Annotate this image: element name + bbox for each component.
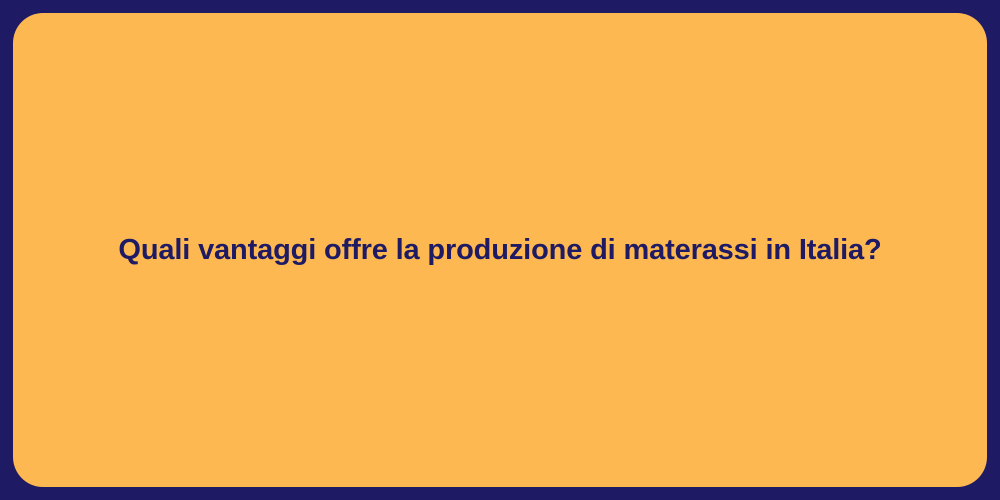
card-frame: Quali vantaggi offre la produzione di ma… — [0, 0, 1000, 500]
card-panel: Quali vantaggi offre la produzione di ma… — [13, 13, 987, 487]
headline-question: Quali vantaggi offre la produzione di ma… — [118, 232, 881, 268]
